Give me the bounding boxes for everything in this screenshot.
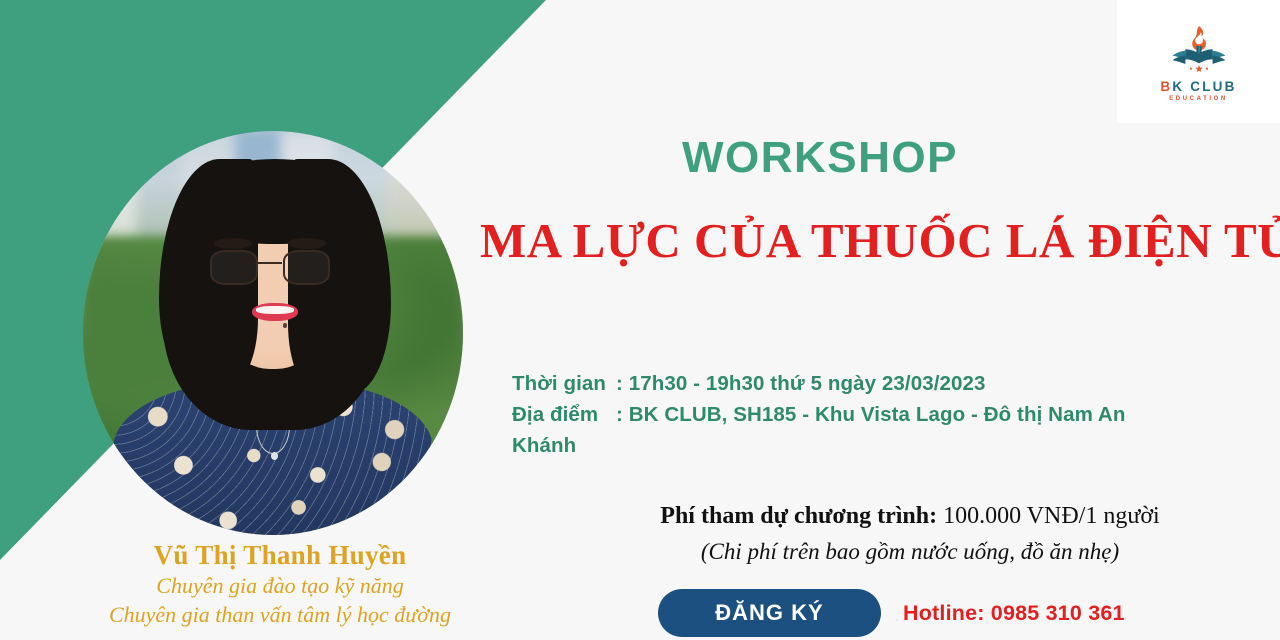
brand-logo-tagline: EDUCATION [1169, 96, 1228, 102]
photo-glasses-left-lens [210, 250, 258, 284]
event-place-line: Địa điểm: BK CLUB, SH185 - Khu Vista Lag… [512, 399, 1162, 461]
speaker-caption: Vũ Thị Thanh Huyền Chuyên gia đào tạo kỹ… [40, 540, 520, 629]
speaker-role-1: Chuyên gia đào tạo kỹ năng [40, 571, 520, 600]
speaker-name: Vũ Thị Thanh Huyền [40, 540, 520, 571]
photo-mole [283, 323, 288, 328]
photo-eyebrow-left [214, 238, 252, 249]
photo-fringe [186, 159, 365, 244]
event-time-label: Thời gian [512, 368, 616, 399]
speaker-role-2: Chuyên gia than vấn tâm lý học đường [40, 600, 520, 629]
photo-glasses-bridge [258, 262, 283, 264]
brand-logo-box: BK CLUB EDUCATION [1117, 0, 1280, 123]
brand-logo-name-first: B [1160, 79, 1172, 94]
workshop-kicker: WORKSHOP [490, 133, 1150, 183]
event-time-value: : 17h30 - 19h30 thứ 5 ngày 23/03/2023 [616, 372, 986, 395]
workshop-poster: BK CLUB EDUCATION WORKSHOP MA LỰC CỦA TH… [0, 0, 1280, 640]
hotline-text: Hotline: 0985 310 361 [903, 601, 1125, 626]
event-time-line: Thời gian: 17h30 - 19h30 thứ 5 ngày 23/0… [512, 368, 1162, 399]
photo-eyebrow-right [288, 238, 326, 249]
page-title: MA LỰC CỦA THUỐC LÁ ĐIỆN TỬ [480, 212, 1280, 269]
cta-row: ĐĂNG KÝ Hotline: 0985 310 361 [658, 589, 1125, 637]
fee-label: Phí tham dự chương trình: [660, 503, 937, 529]
fee-note: (Chi phí trên bao gồm nước uống, đồ ăn n… [560, 539, 1260, 565]
photo-teeth [256, 306, 294, 314]
fee-value: 100.000 VNĐ/1 người [937, 503, 1160, 529]
brand-logo-name-rest: K CLUB [1172, 79, 1236, 94]
event-info: Thời gian: 17h30 - 19h30 thứ 5 ngày 23/0… [512, 368, 1162, 461]
fee-line: Phí tham dự chương trình: 100.000 VNĐ/1 … [560, 503, 1260, 530]
torch-book-logo-icon [1168, 21, 1230, 75]
speaker-photo-image [83, 131, 463, 535]
photo-glasses-right-lens [283, 250, 331, 284]
event-place-label: Địa điểm [512, 399, 616, 430]
brand-logo-name: BK CLUB [1160, 79, 1236, 94]
register-button[interactable]: ĐĂNG KÝ [658, 589, 881, 637]
speaker-photo [83, 131, 463, 535]
